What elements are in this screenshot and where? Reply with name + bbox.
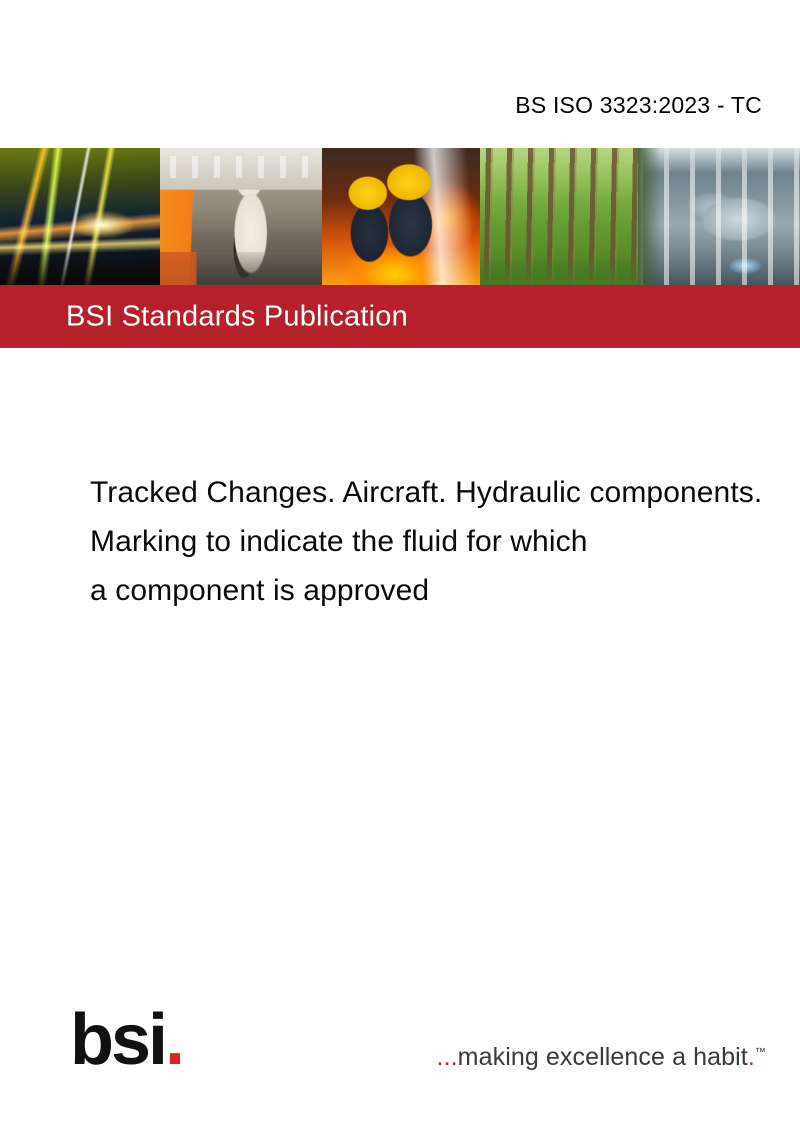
bsi-logo-dot: . — [165, 1000, 182, 1080]
bsi-logo-wordmark: bsi — [70, 1000, 165, 1080]
title-line-1: Tracked Changes. Aircraft. Hydraulic com… — [90, 468, 800, 517]
photo-forest — [480, 148, 638, 285]
cover-photo-strip — [0, 148, 800, 285]
standards-publication-banner: BSI Standards Publication — [0, 285, 800, 348]
photo-firefighters — [322, 148, 480, 285]
publication-title: Tracked Changes. Aircraft. Hydraulic com… — [90, 468, 800, 615]
bsi-logo: bsi. — [70, 1004, 182, 1076]
document-reference: BS ISO 3323:2023 - TC — [515, 92, 762, 119]
banner-label: BSI Standards Publication — [66, 300, 408, 333]
title-line-2: Marking to indicate the fluid for which — [90, 517, 800, 566]
photo-warehouse-worker — [160, 148, 322, 285]
tagline-lead-dots: ... — [437, 1043, 458, 1071]
tagline-end-dot: . — [748, 1043, 755, 1071]
bsi-tagline: ...making excellence a habit.™ — [437, 1045, 766, 1070]
title-line-3: a component is approved — [90, 566, 800, 615]
trademark-icon: ™ — [755, 1047, 766, 1059]
tagline-text: making excellence a habit — [458, 1043, 748, 1071]
photo-traffic-light-trails — [0, 148, 160, 285]
photo-car-assembly-line — [638, 148, 800, 285]
